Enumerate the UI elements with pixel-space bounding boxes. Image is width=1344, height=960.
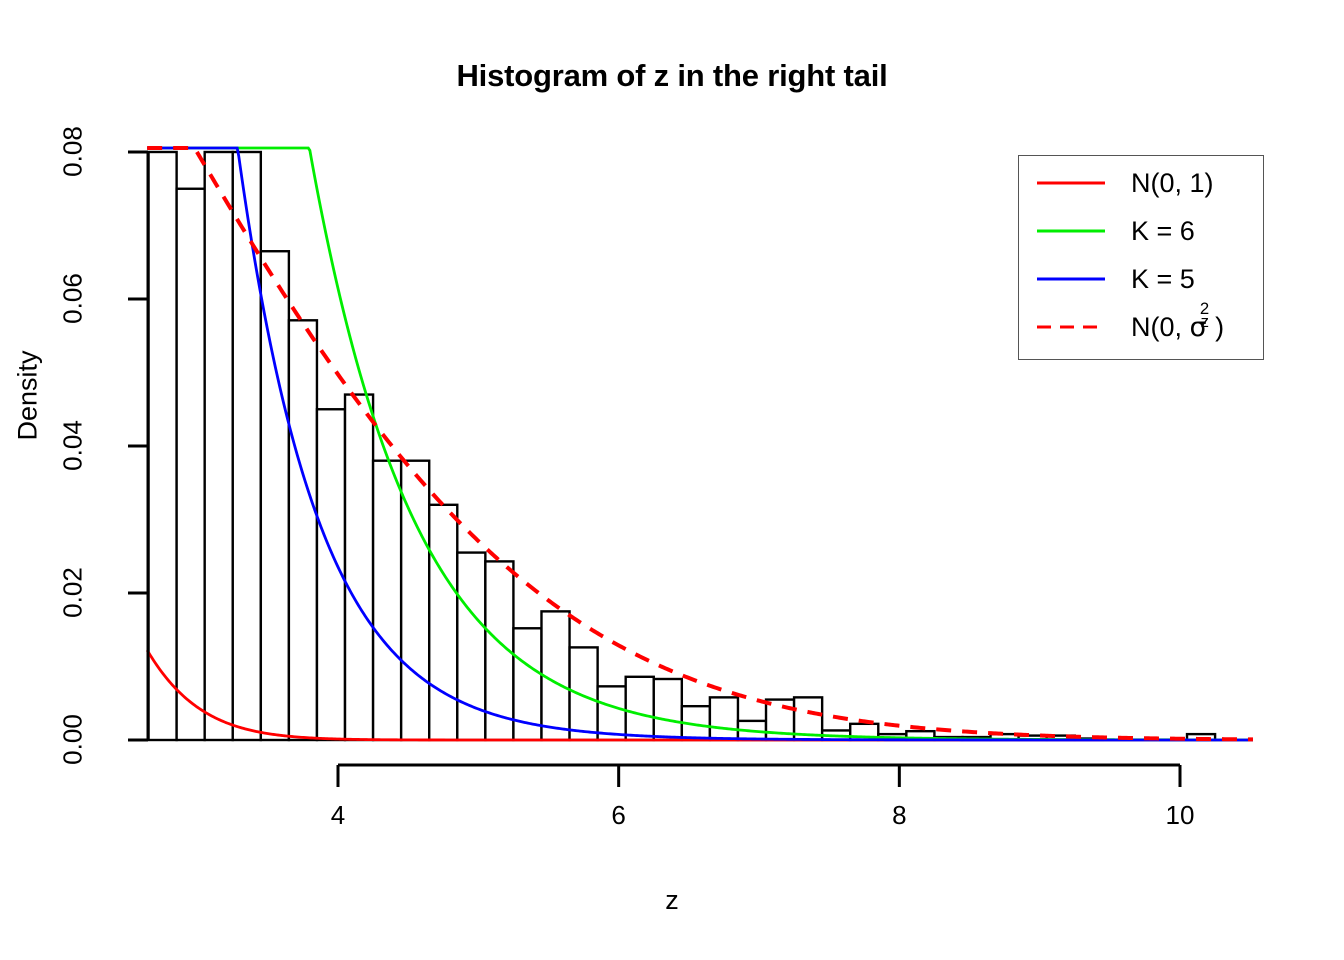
legend-swatch-k6	[1027, 208, 1115, 254]
histogram-bar	[289, 320, 317, 740]
legend-item: K = 6	[1027, 208, 1195, 254]
histogram-bar	[205, 152, 233, 740]
histogram-bar	[654, 679, 682, 740]
legend-label-k5: K = 5	[1115, 264, 1195, 295]
legend-item: N(0, 1)	[1027, 160, 1214, 206]
y-tick-label: 0.06	[58, 254, 89, 344]
histogram-bar	[149, 152, 177, 740]
histogram-bar	[710, 697, 738, 740]
histogram-bar	[570, 647, 598, 740]
legend-label-n01: N(0, 1)	[1115, 168, 1214, 199]
legend-item: N(0, σ2z)	[1027, 304, 1224, 350]
legend-label-n0sigma: N(0, σ2z)	[1115, 312, 1224, 343]
x-tick-label: 6	[579, 800, 659, 831]
x-tick-label: 10	[1140, 800, 1220, 831]
y-tick-label: 0.02	[58, 548, 89, 638]
legend-label-k6: K = 6	[1115, 216, 1195, 247]
chart-legend: N(0, 1) K = 6 K = 5 N(0, σ2z)	[1018, 155, 1264, 360]
legend-item: K = 5	[1027, 256, 1195, 302]
legend-swatch-k5	[1027, 256, 1115, 302]
histogram-bar	[373, 461, 401, 740]
x-tick-label: 8	[859, 800, 939, 831]
histogram-bar	[345, 395, 373, 740]
histogram-bar	[261, 251, 289, 740]
legend-swatch-n01	[1027, 160, 1115, 206]
chart-plot-area: Histogram of z in the right tail Density…	[0, 0, 1344, 960]
y-tick-label: 0.08	[58, 107, 89, 197]
legend-swatch-n0sigma	[1027, 304, 1115, 350]
x-tick-label: 4	[298, 800, 378, 831]
histogram-bar	[457, 553, 485, 740]
y-tick-label: 0.04	[58, 401, 89, 491]
histogram-bar	[429, 505, 457, 740]
histogram-bar	[177, 189, 205, 740]
histogram-bar	[233, 152, 261, 740]
y-tick-label: 0.00	[58, 695, 89, 785]
histogram-bar	[626, 677, 654, 740]
